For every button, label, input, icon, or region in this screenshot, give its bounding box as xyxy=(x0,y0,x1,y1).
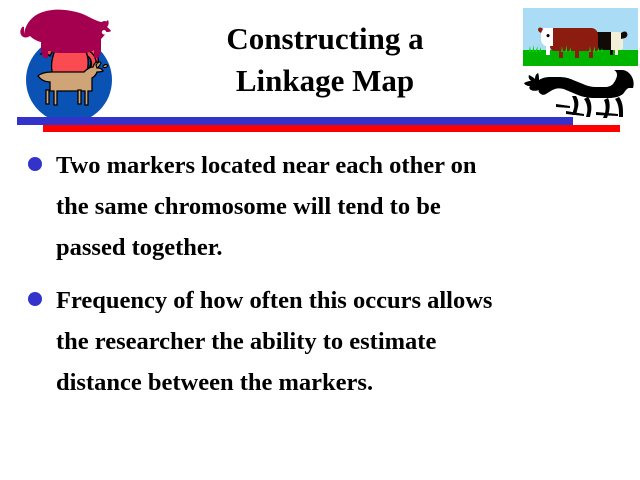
livestock-emblem-logo xyxy=(14,2,124,124)
bullet-2-line-2: the researcher the ability to estimate xyxy=(56,321,627,362)
slide-title-line-1: Constructing a xyxy=(130,18,520,60)
photo-grass xyxy=(523,50,638,66)
bullet-item-1: Two markers located near each other on t… xyxy=(27,145,627,268)
bullet-1-line-3: passed together. xyxy=(56,227,627,268)
slide-canvas: Constructing a Linkage Map Two markers l… xyxy=(0,0,640,480)
bullet-1-line-1: Two markers located near each other on xyxy=(56,145,627,186)
bullet-item-2: Frequency of how often this occurs allow… xyxy=(27,280,627,403)
bullet-dot-icon xyxy=(28,157,42,171)
slide-title-line-2: Linkage Map xyxy=(130,60,520,102)
bullet-item-1-text: Two markers located near each other on t… xyxy=(56,145,627,268)
divider-bar-red xyxy=(43,125,620,132)
divider-bar-blue xyxy=(17,117,573,125)
bullet-dot-icon xyxy=(28,292,42,306)
slide-body: Two markers located near each other on t… xyxy=(27,145,627,415)
bullet-1-line-2: the same chromosome will tend to be xyxy=(56,186,627,227)
galloping-horse-silhouette xyxy=(518,66,638,122)
slide-title: Constructing a Linkage Map xyxy=(130,18,520,102)
bullet-2-line-1: Frequency of how often this occurs allow… xyxy=(56,280,627,321)
cattle-pasture-photo xyxy=(523,8,638,66)
bullet-2-line-3: distance between the markers. xyxy=(56,362,627,403)
pig-icon xyxy=(20,10,111,58)
bullet-item-2-text: Frequency of how often this occurs allow… xyxy=(56,280,627,403)
